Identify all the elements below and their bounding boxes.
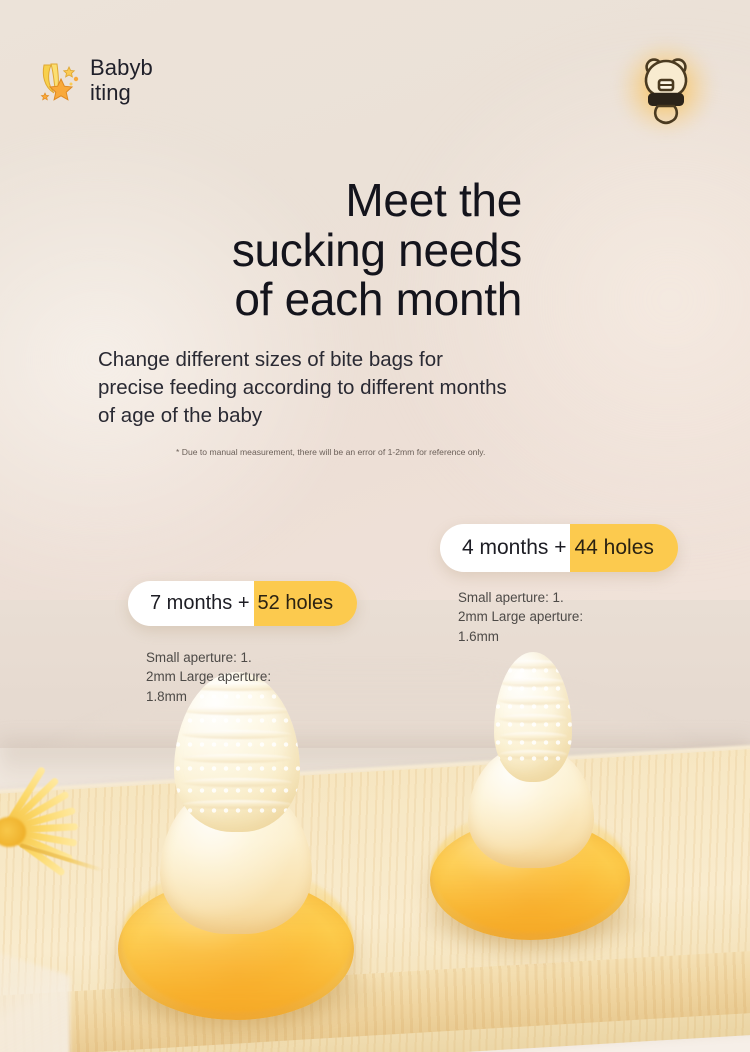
measurement-disclaimer: * Due to manual measurement, there will … <box>176 446 544 459</box>
baby-fruit-feeder-right <box>424 610 636 940</box>
page-title: Meet the sucking needs of each month <box>0 176 522 325</box>
headline-line2: sucking needs <box>0 226 522 276</box>
brand-name-line1: Babyb <box>90 56 182 81</box>
badge-7-months[interactable]: 7 months + 52 holes <box>128 581 357 626</box>
spec-line1: Small aperture: 1. <box>146 648 326 667</box>
shooting-star-icon <box>38 57 84 105</box>
brand-name: Babyb iting <box>90 56 182 105</box>
headline-line1: Meet the <box>0 176 522 226</box>
badge-holes-label: 52 holes <box>254 581 358 626</box>
subhead-line3: of age of the baby <box>98 402 658 430</box>
page-subtitle: Change different sizes of bite bags for … <box>98 346 658 430</box>
product-banner-page: Babyb iting Meet the sucking needs of ea… <box>0 0 750 1052</box>
subhead-line1: Change different sizes of bite bags for <box>98 346 658 374</box>
badge-holes-label: 44 holes <box>570 524 677 572</box>
badge-months-label: 7 months + <box>128 581 254 626</box>
product-photo-scene <box>0 600 750 1052</box>
badge-months-label: 4 months + <box>440 524 570 572</box>
spec-line2: 2mm Large aperture: <box>458 607 638 626</box>
subhead-line2: precise feeding according to different m… <box>98 374 658 402</box>
dried-flower-prop <box>0 775 120 885</box>
spec-line1: Small aperture: 1. <box>458 588 638 607</box>
spec-line3: 1.6mm <box>458 627 638 646</box>
badge-4-months-spec: Small aperture: 1. 2mm Large aperture: 1… <box>458 588 638 646</box>
badge-7-months-spec: Small aperture: 1. 2mm Large aperture: 1… <box>146 648 326 706</box>
bear-pacifier-icon[interactable] <box>634 50 698 126</box>
brand-name-line2: iting <box>90 81 182 106</box>
headline-line3: of each month <box>0 275 522 325</box>
spec-line3: 1.8mm <box>146 687 326 706</box>
spec-line2: 2mm Large aperture: <box>146 667 326 686</box>
brand-logo[interactable]: Babyb iting <box>38 56 182 105</box>
badge-4-months[interactable]: 4 months + 44 holes <box>440 524 678 572</box>
